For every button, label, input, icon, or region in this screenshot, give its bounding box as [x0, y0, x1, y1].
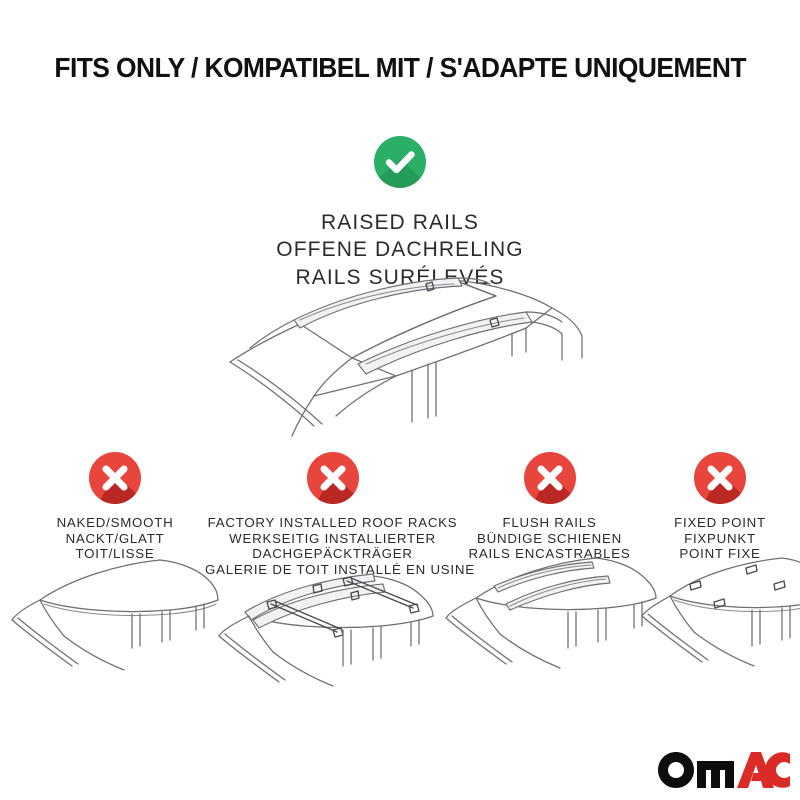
car-roof-bare-illustration — [10, 552, 220, 677]
badge-wrap — [205, 452, 460, 506]
x-circle-icon — [694, 452, 746, 504]
excluded-label-de: NACKT/GLATT — [10, 531, 220, 547]
car-roof-with-flush-rails-illustration — [442, 552, 657, 677]
x-glyph — [524, 452, 576, 504]
x-glyph — [89, 452, 141, 504]
check-circle-icon — [374, 136, 426, 188]
badge-wrap — [442, 452, 657, 506]
x-glyph — [694, 452, 746, 504]
excluded-label-en: FACTORY INSTALLED ROOF RACKS — [205, 515, 460, 531]
excluded-label-en: FLUSH RAILS — [442, 515, 657, 531]
badge-wrap — [640, 452, 800, 506]
excluded-label-en: NAKED/SMOOTH — [10, 515, 220, 531]
omac-logo — [658, 752, 790, 788]
approved-label-en: RAISED RAILS — [0, 209, 800, 236]
x-circle-icon — [89, 452, 141, 504]
excluded-label-de-2: DACHGEPÄCKTRÄGER — [205, 546, 460, 562]
excluded-option-flush-rails: FLUSH RAILS BÜNDIGE SCHIENEN RAILS ENCAS… — [442, 452, 657, 562]
excluded-option-fixed-point: FIXED POINT FIXPUNKT POINT FIXE — [640, 452, 800, 562]
car-roof-with-fixed-points-illustration — [640, 552, 800, 677]
car-roof-with-raised-rails-illustration — [196, 276, 616, 456]
approved-label-de: OFFENE DACHRELING — [0, 236, 800, 263]
x-circle-icon — [524, 452, 576, 504]
check-glyph — [374, 136, 426, 188]
excluded-label-en: FIXED POINT — [640, 515, 800, 531]
x-glyph — [307, 452, 359, 504]
excluded-labels: FACTORY INSTALLED ROOF RACKS WERKSEITIG … — [205, 515, 460, 578]
x-circle-icon — [307, 452, 359, 504]
excluded-label-de-1: WERKSEITIG INSTALLIERTER — [205, 531, 460, 547]
excluded-label-de: BÜNDIGE SCHIENEN — [442, 531, 657, 547]
approved-section: RAISED RAILS OFFENE DACHRELING RAILS SUR… — [0, 136, 800, 291]
excluded-option-factory-roof-racks: FACTORY INSTALLED ROOF RACKS WERKSEITIG … — [205, 452, 460, 578]
car-roof-with-factory-crossbars-illustration — [205, 570, 445, 695]
page-title: FITS ONLY / KOMPATIBEL MIT / S'ADAPTE UN… — [0, 52, 800, 84]
excluded-option-naked-smooth: NAKED/SMOOTH NACKT/GLATT TOIT/LISSE — [10, 452, 220, 562]
badge-wrap — [10, 452, 220, 506]
omac-logo-mark — [658, 752, 790, 788]
excluded-label-de: FIXPUNKT — [640, 531, 800, 547]
page-title-text: FITS ONLY / KOMPATIBEL MIT / S'ADAPTE UN… — [54, 52, 745, 84]
